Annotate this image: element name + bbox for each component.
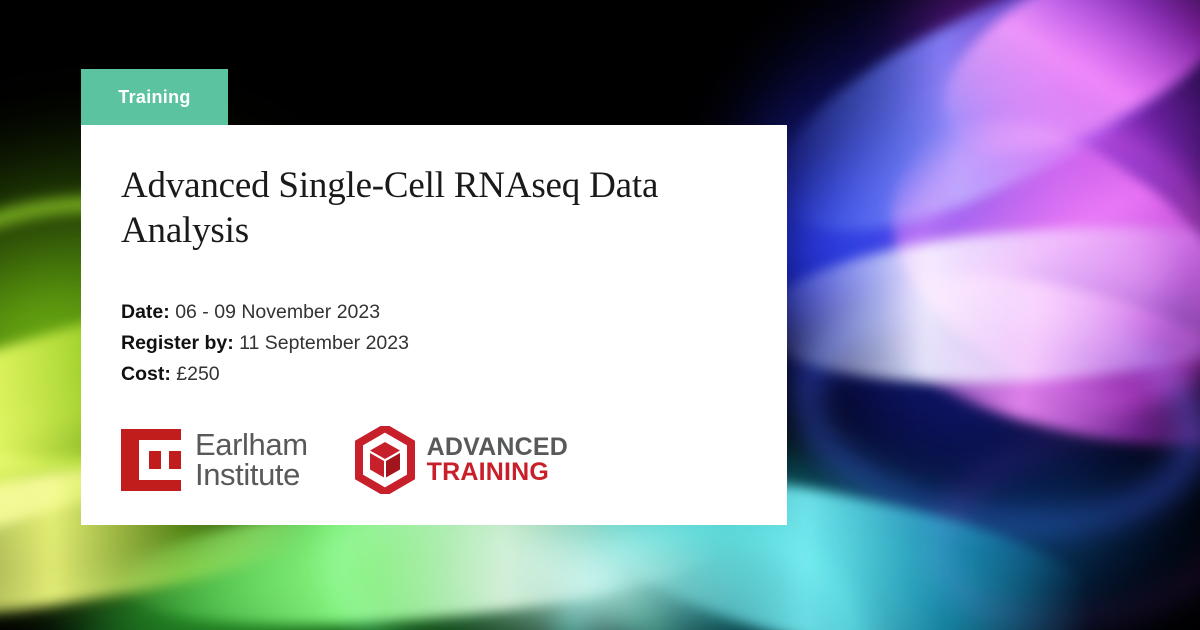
earlham-wordmark: Earlham Institute xyxy=(195,430,308,490)
category-badge-label: Training xyxy=(118,87,190,108)
event-title: Advanced Single-Cell RNAseq Data Analysi… xyxy=(121,163,681,253)
earlham-ei-monogram-icon xyxy=(121,429,181,491)
streak-blue-lower-glow xyxy=(782,294,1200,605)
logo-row: Earlham Institute xyxy=(121,426,747,494)
advanced-training-hexagon-cube-icon xyxy=(354,426,416,494)
earlham-wordmark-line1: Earlham xyxy=(195,430,308,460)
detail-row-cost: Cost: £250 xyxy=(121,359,747,390)
streak-magenta-bloom xyxy=(1010,170,1200,370)
streak-blue-thin-2 xyxy=(776,272,1200,558)
detail-row-date: Date: 06 - 09 November 2023 xyxy=(121,297,747,328)
advanced-training-logo[interactable]: ADVANCED TRAINING xyxy=(354,426,568,494)
streak-magenta-line-1 xyxy=(915,0,1200,192)
category-badge[interactable]: Training xyxy=(81,69,228,125)
detail-label-register-by: Register by: xyxy=(121,332,234,354)
detail-label-cost: Cost xyxy=(121,363,164,385)
earlham-wordmark-line2: Institute xyxy=(195,460,308,490)
event-card: Training Advanced Single-Cell RNAseq Dat… xyxy=(81,69,787,525)
detail-label-date: Date xyxy=(121,301,163,323)
streak-purple-haze xyxy=(820,0,1200,330)
streak-white-blue-line xyxy=(755,211,1200,400)
streak-magenta-arc-1 xyxy=(857,0,1200,292)
streak-teal-ring xyxy=(560,520,860,630)
detail-value-register-by: 11 September 2023 xyxy=(234,332,409,354)
streak-cyan-glow-right xyxy=(798,383,1200,630)
detail-value-cost: £250 xyxy=(171,363,220,385)
streak-blue-core xyxy=(741,88,1200,452)
advanced-training-wordmark-line1: ADVANCED xyxy=(427,435,568,460)
detail-value-date: 06 - 09 November 2023 xyxy=(170,301,380,323)
detail-row-register-by: Register by: 11 September 2023 xyxy=(121,328,747,359)
streak-magenta-ring xyxy=(859,73,1200,468)
streak-magenta-sweep-low xyxy=(859,244,1200,477)
advanced-training-wordmark: ADVANCED TRAINING xyxy=(427,435,568,485)
event-details: Date: 06 - 09 November 2023 Register by:… xyxy=(121,297,747,390)
streak-violet-mid xyxy=(813,20,1200,401)
streak-blue-line-1 xyxy=(747,0,1200,277)
poster-canvas: Training Advanced Single-Cell RNAseq Dat… xyxy=(0,0,1200,630)
event-card-body: Advanced Single-Cell RNAseq Data Analysi… xyxy=(81,125,787,525)
advanced-training-wordmark-line2: TRAINING xyxy=(427,460,568,485)
streak-violet-thin-bottom xyxy=(912,393,1200,630)
streak-magenta-line-2 xyxy=(846,69,1200,461)
earlham-institute-logo[interactable]: Earlham Institute xyxy=(121,429,308,491)
